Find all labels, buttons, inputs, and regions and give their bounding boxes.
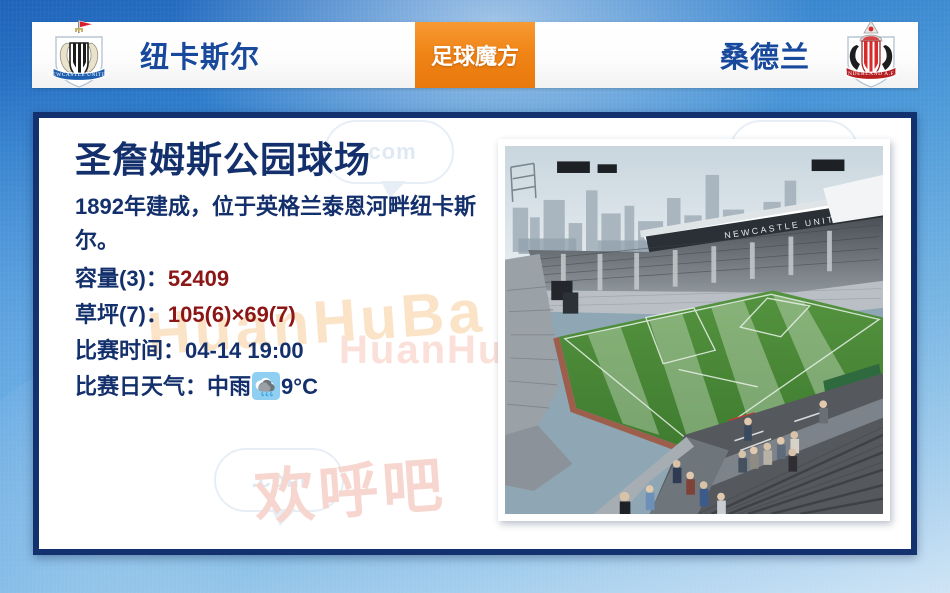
- match-time-label: 比赛时间：: [75, 338, 185, 363]
- stadium-title: 圣詹姆斯公园球场: [75, 140, 495, 180]
- site-logo[interactable]: 足球魔方: [415, 22, 535, 88]
- watermark-com-bubble-3: .com: [214, 448, 344, 512]
- capacity-value: 52409: [168, 266, 229, 291]
- site-logo-text: 足球魔方: [431, 39, 519, 71]
- watermark-brand-1: 欢呼吧: [251, 436, 449, 536]
- rain-cloud-icon: [252, 372, 280, 400]
- pitch-label: 草坪(7)：: [75, 302, 168, 327]
- away-team-name: 桑德兰: [720, 34, 810, 76]
- newcastle-united-crest-icon: NEWCASTLE UNITED: [48, 19, 110, 89]
- svg-text:SUNDERLAND A.F.C.: SUNDERLAND A.F.C.: [840, 71, 902, 77]
- pitch-row: 草坪(7)：105(6)×69(7): [75, 297, 495, 333]
- capacity-label: 容量(3)：: [75, 266, 168, 291]
- home-team-block[interactable]: NEWCASTLE UNITED 纽卡斯尔: [32, 22, 415, 88]
- capacity-row: 容量(3)：52409: [75, 261, 495, 297]
- panel-inner: .com .com .com HuanHuBa HuanHuBa 欢呼吧 圣詹姆…: [39, 118, 911, 549]
- stadium-photo-frame[interactable]: NEWCASTLE UNITED: [498, 139, 890, 521]
- weather-condition: 中雨: [207, 374, 251, 399]
- svg-text:NEWCASTLE UNITED: NEWCASTLE UNITED: [48, 72, 110, 78]
- stadium-detail-panel: .com .com .com HuanHuBa HuanHuBa 欢呼吧 圣詹姆…: [33, 112, 917, 555]
- home-team-name: 纽卡斯尔: [140, 34, 260, 76]
- stadium-photo: NEWCASTLE UNITED: [505, 146, 883, 514]
- stadium-info-card: NEWCASTLE UNITED 纽卡斯尔 足球魔方 桑德兰: [0, 0, 950, 593]
- match-time-value: 04-14 19:00: [185, 338, 304, 363]
- stadium-info-block: 圣詹姆斯公园球场 1892年建成，位于英格兰泰恩河畔纽卡斯尔。 容量(3)：52…: [75, 140, 495, 406]
- match-header-bar: NEWCASTLE UNITED 纽卡斯尔 足球魔方 桑德兰: [32, 22, 918, 88]
- away-team-block[interactable]: 桑德兰: [535, 22, 918, 88]
- weather-label: 比赛日天气：: [75, 374, 207, 399]
- sunderland-afc-crest-icon: SUNDERLAND A.F.C.: [840, 19, 902, 89]
- match-time-row: 比赛时间：04-14 19:00: [75, 333, 495, 369]
- pitch-value: 105(6)×69(7): [168, 302, 296, 327]
- weather-temperature: 9°C: [281, 374, 318, 399]
- weather-row: 比赛日天气：中雨 9°C: [75, 369, 495, 405]
- stadium-description: 1892年建成，位于英格兰泰恩河畔纽卡斯尔。: [75, 190, 495, 257]
